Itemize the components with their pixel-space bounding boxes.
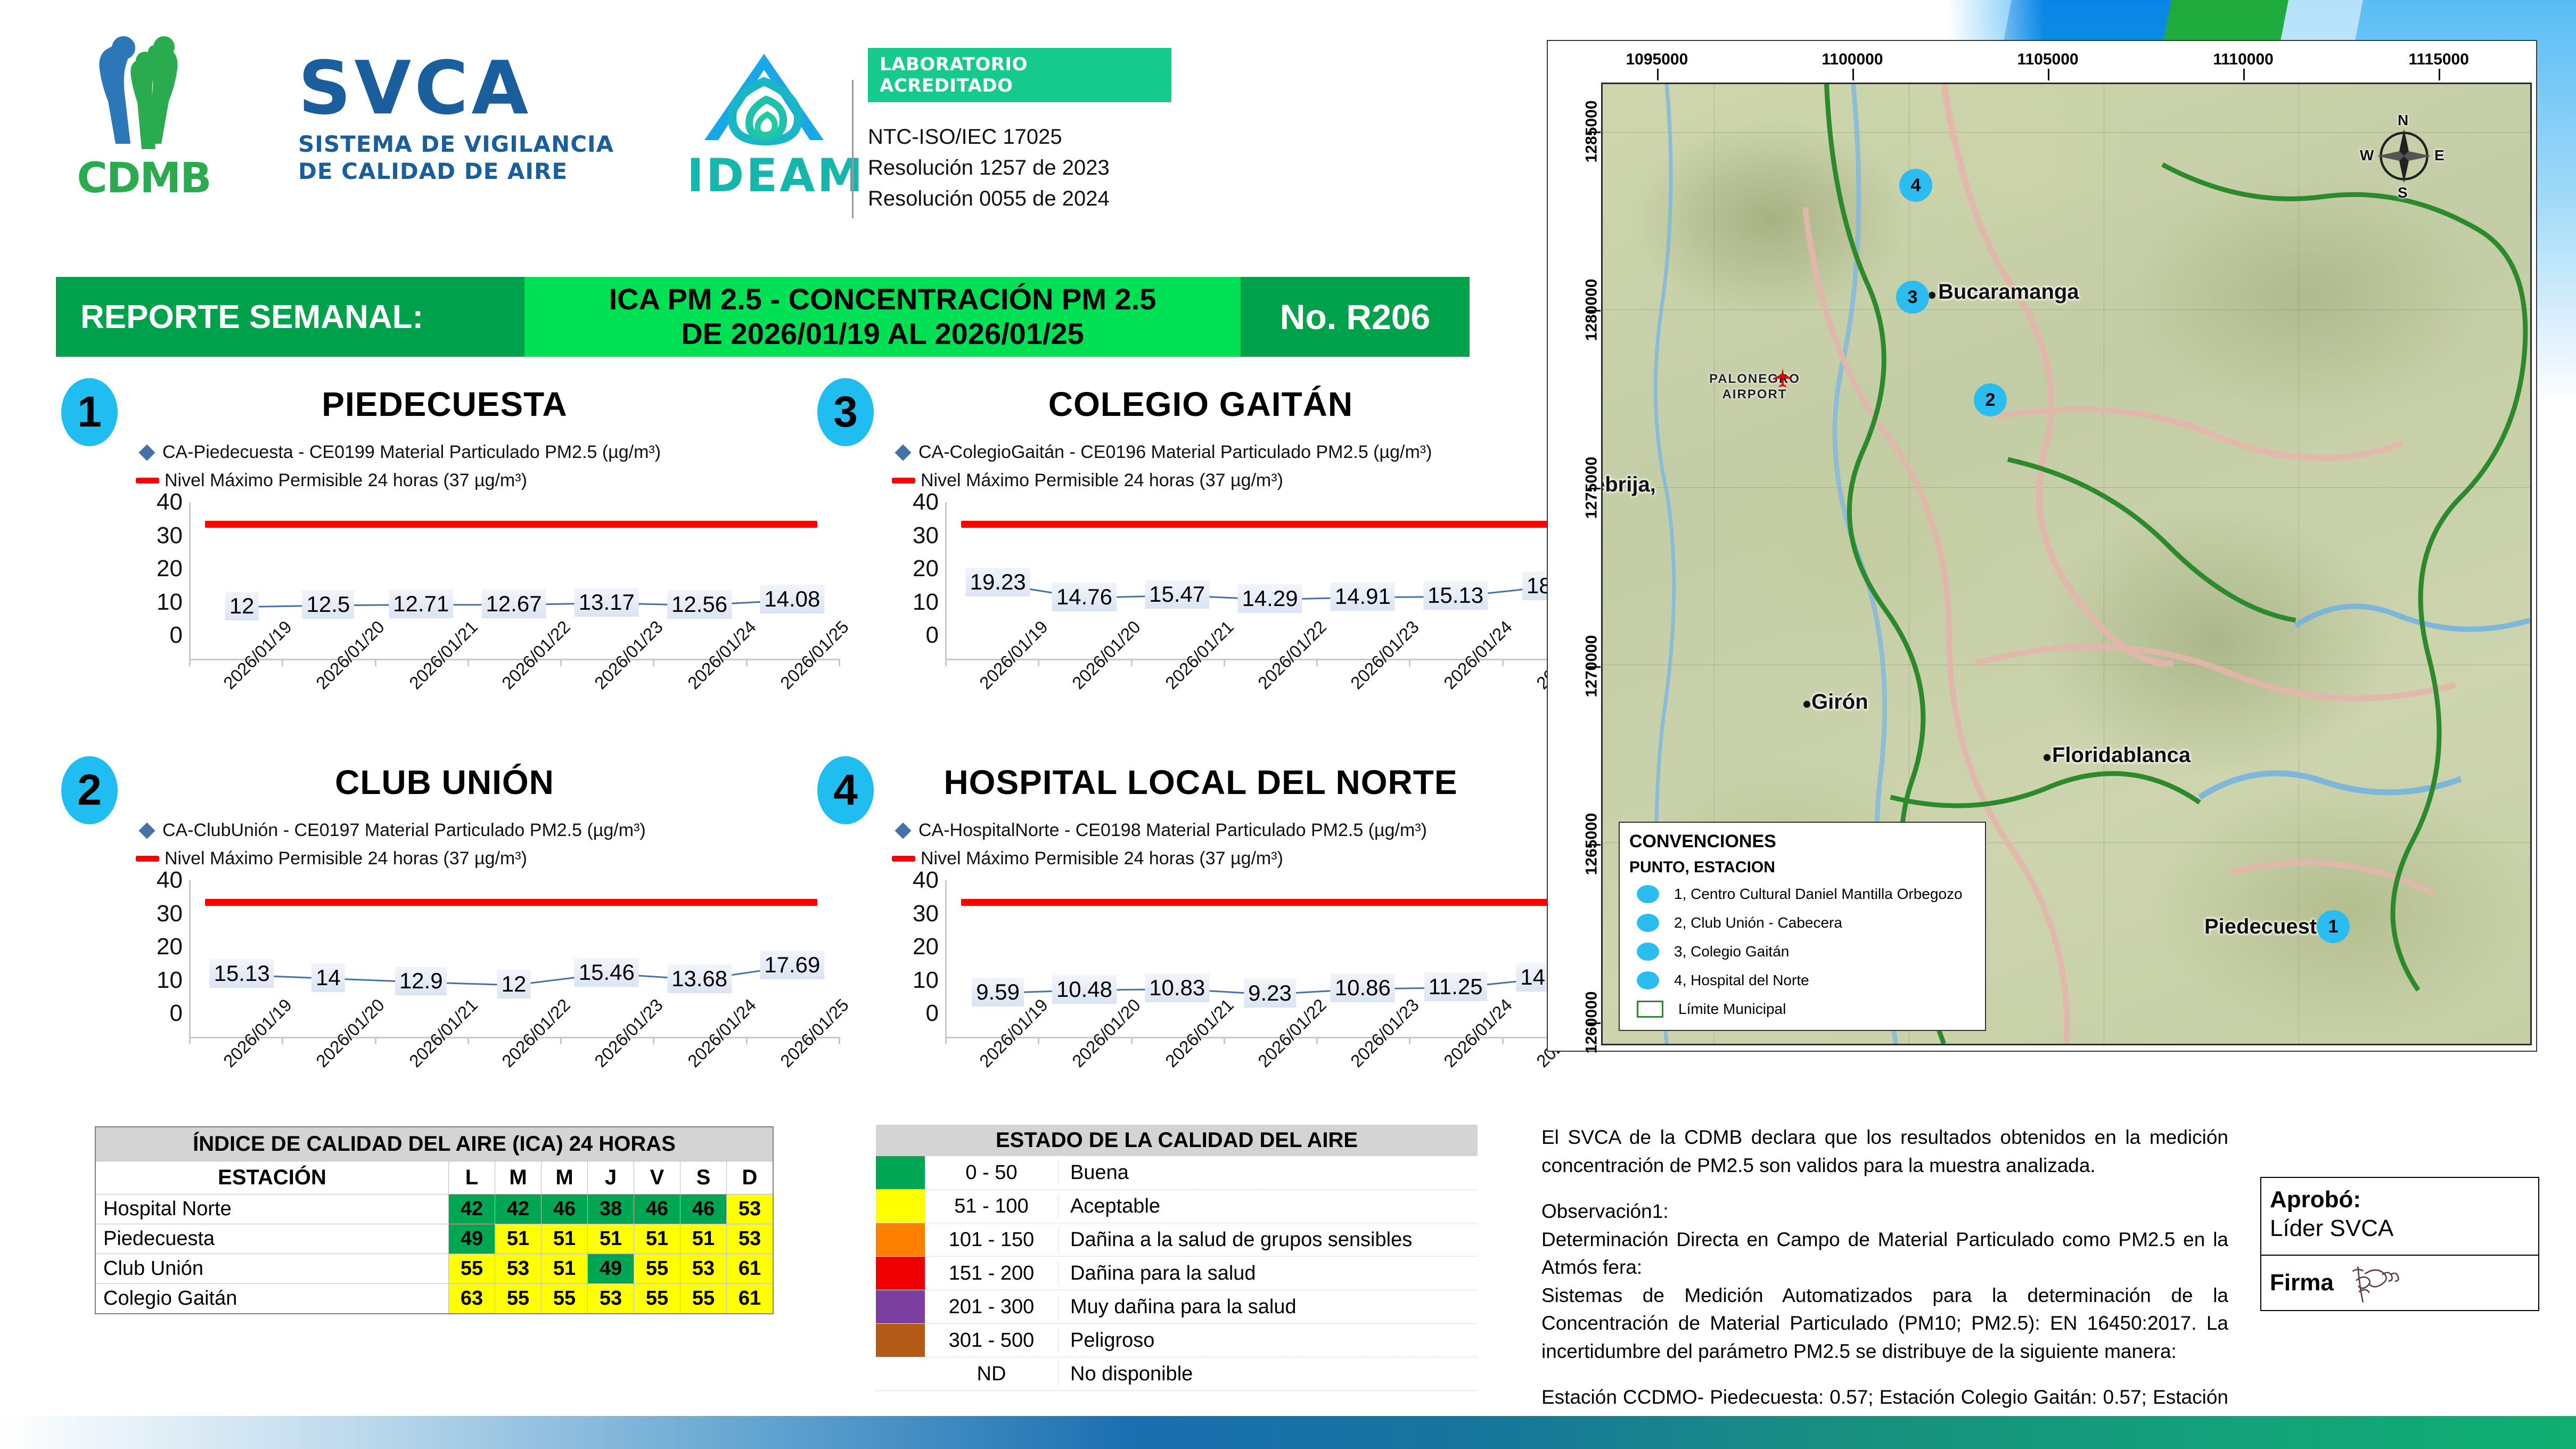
ica-value-cell: 51 xyxy=(680,1224,727,1254)
ica-table-header-row: ESTACIÓNLMMJVSD xyxy=(95,1161,773,1194)
air-quality-label: Aceptable xyxy=(1059,1195,1160,1218)
series-marker-icon xyxy=(138,822,155,839)
accreditation-standards: NTC-ISO/IEC 17025 Resolución 1257 de 202… xyxy=(868,121,1171,214)
air-quality-color-swatch xyxy=(876,1324,925,1357)
chart-title: CLUB UNIÓN xyxy=(130,763,759,802)
chart-axis-line-horizontal xyxy=(189,1037,839,1038)
report-subject-line2: DE 2026/01/19 AL 2026/01/25 xyxy=(524,317,1241,351)
map-pin-1[interactable]: 1 xyxy=(2317,910,2350,943)
report-number: No. R206 xyxy=(1241,277,1470,357)
observation-text-2: Sistemas de Medición Automatizados para … xyxy=(1541,1282,2228,1366)
map-x-axis: 1095000 1100000 1105000 1110000 1115000 xyxy=(1601,43,2532,80)
data-point-label: 10.83 xyxy=(1145,973,1209,1002)
data-point-label: 12 xyxy=(497,970,531,998)
ica-table-body: Hospital Norte42424638464653 Piedecuesta… xyxy=(95,1194,773,1314)
map-y-axis: 1285000 1280000 1275000 1270000 1265000 … xyxy=(1550,84,1601,1046)
list-item: 0 - 50 Buena xyxy=(876,1156,1478,1190)
table-row: Club Unión55535149555361 xyxy=(95,1254,773,1284)
x-tick-mark xyxy=(282,1037,283,1044)
ica-value-cell: 46 xyxy=(680,1194,727,1224)
air-quality-color-swatch xyxy=(876,1357,925,1390)
air-quality-legend-title: ESTADO DE LA CALIDAD DEL AIRE xyxy=(876,1125,1478,1156)
data-point-label: 12.56 xyxy=(667,590,732,619)
legend-threshold-label: Nivel Máximo Permisible 24 horas (37 µg/… xyxy=(921,470,1283,491)
map-pin-4[interactable]: 4 xyxy=(1899,169,1932,202)
x-tick-mark xyxy=(189,659,191,666)
data-point-label: 12.9 xyxy=(395,967,447,995)
x-tick-mark xyxy=(653,1037,654,1044)
table-row: Colegio Gaitán63555553555561 xyxy=(95,1284,773,1314)
x-tick-mark xyxy=(1316,659,1318,666)
map-legend-subtitle: PUNTO, ESTACION xyxy=(1629,858,1975,877)
map-x-tick-mark xyxy=(2243,69,2245,80)
chart-axis-line-horizontal xyxy=(189,659,839,660)
ica-value-cell: 51 xyxy=(542,1254,588,1284)
accreditation-line-2: Resolución 1257 de 2023 xyxy=(868,152,1171,183)
map-y-tick-mark xyxy=(1588,1022,1601,1024)
list-item: 101 - 150 Dañina a la salud de grupos se… xyxy=(876,1223,1478,1257)
map-legend-item-4: 4, Hospital del Norte xyxy=(1629,966,1975,995)
legend-series-label: CA-ClubUnión - CE0197 Material Particula… xyxy=(162,820,646,841)
report-subject: ICA PM 2.5 - CONCENTRACIÓN PM 2.5 DE 202… xyxy=(524,277,1241,357)
observation-text-1: Determinación Directa en Campo de Materi… xyxy=(1541,1226,2228,1282)
x-tick-mark xyxy=(1502,1037,1504,1044)
legend-entry-series: CA-ColegioGaitán - CE0196 Material Parti… xyxy=(897,442,1432,463)
x-tick-mark xyxy=(1502,659,1504,666)
chart-panel-1: 1 PIEDECUESTA CA-Piedecuesta - CE0199 Ma… xyxy=(56,373,801,740)
air-quality-range: 0 - 50 xyxy=(925,1161,1059,1184)
x-tick-mark xyxy=(375,1037,376,1044)
air-quality-label: No disponible xyxy=(1059,1363,1193,1386)
ica-station-name: Club Unión xyxy=(95,1254,449,1284)
ica-value-cell: 42 xyxy=(495,1194,542,1224)
list-item: 51 - 100 Aceptable xyxy=(876,1190,1478,1223)
accreditation-block: LABORATORIO ACREDITADO NTC-ISO/IEC 17025… xyxy=(868,48,1171,214)
air-quality-label: Peligroso xyxy=(1059,1329,1154,1352)
ica-value-cell: 61 xyxy=(727,1284,774,1314)
ica-value-cell: 38 xyxy=(588,1194,634,1224)
signature-label: Firma xyxy=(2270,1270,2334,1296)
chart-plot-area: 010203040 15.131412.91215.4613.6817.69 2… xyxy=(136,892,785,1025)
ica-day-header-0: L xyxy=(449,1161,495,1194)
ica-value-cell: 55 xyxy=(680,1284,727,1314)
ica-day-header-3: J xyxy=(588,1161,634,1194)
ica-value-cell: 53 xyxy=(495,1254,542,1284)
legend-entry-threshold: Nivel Máximo Permisible 24 horas (37 µg/… xyxy=(141,848,646,869)
ica-value-cell: 51 xyxy=(588,1224,634,1254)
air-quality-color-swatch xyxy=(876,1223,925,1256)
x-tick-mark xyxy=(653,659,654,666)
map-legend-title: CONVENCIONES xyxy=(1629,831,1975,852)
chart-number-badge: 3 xyxy=(817,378,874,446)
data-point-label: 11.25 xyxy=(1424,972,1487,1001)
data-point-label: 12 xyxy=(225,592,259,620)
signature-row: Firma xyxy=(2261,1256,2538,1310)
cdmb-logo-mark xyxy=(59,32,229,165)
table-row: Piedecuesta49515151515153 xyxy=(95,1224,773,1254)
map-y-tick-mark xyxy=(1588,844,1601,846)
x-tick-mark xyxy=(1038,1037,1039,1044)
legend-entry-threshold: Nivel Máximo Permisible 24 horas (37 µg/… xyxy=(897,470,1432,491)
ica-value-cell: 55 xyxy=(449,1254,495,1284)
map-x-tick-mark xyxy=(1852,69,1854,80)
approved-by-role: Líder SVCA xyxy=(2270,1215,2530,1242)
accreditation-line-1: NTC-ISO/IEC 17025 xyxy=(868,121,1171,152)
y-tick-label: 40 xyxy=(913,867,939,894)
ica-value-cell: 46 xyxy=(542,1194,588,1224)
ica-day-header-6: D xyxy=(727,1161,774,1194)
x-tick-mark xyxy=(1131,659,1133,666)
series-marker-icon xyxy=(138,444,155,461)
data-point-label: 15.46 xyxy=(575,958,639,987)
air-quality-legend: ESTADO DE LA CALIDAD DEL AIRE 0 - 50 Bue… xyxy=(876,1125,1478,1391)
threshold-line-icon xyxy=(892,478,915,484)
threshold-line-icon xyxy=(892,856,915,862)
data-point-label: 14.91 xyxy=(1331,582,1395,611)
map-legend-item-label: 4, Hospital del Norte xyxy=(1674,972,1809,989)
map-x-tick-label: 1105000 xyxy=(2017,51,2078,69)
map-legend-pin-icon xyxy=(1637,885,1659,903)
footer-gradient-bar xyxy=(0,1416,2576,1449)
map-legend-item-label: 1, Centro Cultural Daniel Mantilla Orbeg… xyxy=(1674,886,1963,903)
legend-series-label: CA-HospitalNorte - CE0198 Material Parti… xyxy=(918,820,1427,841)
ica-table-caption: ÍNDICE DE CALIDAD DEL AIRE (ICA) 24 HORA… xyxy=(95,1127,773,1161)
compass-west-label: W xyxy=(2360,147,2374,164)
x-tick-mark xyxy=(375,659,376,666)
ideam-label: IDEAM xyxy=(687,149,841,202)
chart-number-badge: 4 xyxy=(817,756,874,824)
legend-threshold-label: Nivel Máximo Permisible 24 horas (37 µg/… xyxy=(165,470,527,491)
threshold-line-icon xyxy=(136,478,159,484)
air-quality-label: Dañina a la salud de grupos sensibles xyxy=(1059,1229,1412,1251)
svca-subtitle-line2: DE CALIDAD DE AIRE xyxy=(298,158,628,185)
map-legend-item-1: 1, Centro Cultural Daniel Mantilla Orbeg… xyxy=(1629,880,1975,908)
ica-value-cell: 53 xyxy=(727,1224,774,1254)
data-point-label: 10.48 xyxy=(1052,975,1117,1004)
x-tick-mark xyxy=(560,1037,562,1044)
place-label-bucaramanga: Bucaramanga xyxy=(1938,280,2079,304)
chart-title: COLEGIO GAITÁN xyxy=(887,384,1515,424)
chart-title: HOSPITAL LOCAL DEL NORTE xyxy=(887,763,1515,802)
list-item: ND No disponible xyxy=(876,1357,1478,1391)
map-legend-boundary-label: Límite Municipal xyxy=(1678,1001,1786,1018)
map-x-tick-label: 1110000 xyxy=(2213,51,2273,69)
data-point-label: 14 xyxy=(311,963,345,992)
data-point-label: 12.5 xyxy=(302,590,355,619)
chart-title: PIEDECUESTA xyxy=(130,384,759,424)
legend-entry-threshold: Nivel Máximo Permisible 24 horas (37 µg/… xyxy=(897,848,1427,869)
x-tick-mark xyxy=(282,659,283,666)
air-quality-range: 51 - 100 xyxy=(925,1195,1059,1218)
ica-station-name: Hospital Norte xyxy=(95,1194,449,1224)
air-quality-color-swatch xyxy=(876,1290,925,1323)
chart-legend: CA-Piedecuesta - CE0199 Material Particu… xyxy=(141,442,661,498)
place-label-floridablanca: Floridablanca xyxy=(2052,743,2191,767)
list-item: 151 - 200 Dañina para la salud xyxy=(876,1257,1478,1290)
x-tick-mark xyxy=(560,659,562,666)
legend-entry-series: CA-HospitalNorte - CE0198 Material Parti… xyxy=(897,820,1427,841)
chart-plot-area: 010203040 9.5910.4810.839.2310.8611.2514… xyxy=(892,892,1541,1025)
air-quality-range: 301 - 500 xyxy=(925,1329,1059,1352)
map-pin-3[interactable]: 3 xyxy=(1896,281,1929,314)
place-label-piedecuesta: Piedecuesta xyxy=(2204,915,2328,939)
legend-series-label: CA-ColegioGaitán - CE0196 Material Parti… xyxy=(918,442,1432,463)
map-pin-2[interactable]: 2 xyxy=(1974,383,2007,416)
air-quality-range: 151 - 200 xyxy=(925,1262,1059,1285)
approval-box: Aprobó: Líder SVCA Firma xyxy=(2260,1177,2539,1311)
map-y-tick-mark xyxy=(1588,132,1601,133)
list-item: 201 - 300 Muy dañina para la salud xyxy=(876,1290,1478,1324)
data-point-label: 15.13 xyxy=(1423,581,1488,610)
air-quality-range: ND xyxy=(925,1363,1059,1386)
table-row: Hospital Norte42424638464653 xyxy=(95,1194,773,1224)
series-marker-icon xyxy=(895,822,911,839)
air-quality-label: Muy dañina para la salud xyxy=(1059,1296,1297,1319)
ideam-logo-mark xyxy=(700,51,828,146)
airport-name-line2: AIRPORT xyxy=(1722,387,1787,402)
x-tick-mark xyxy=(1224,1037,1225,1044)
svca-subtitle-line1: SISTEMA DE VIGILANCIA xyxy=(298,130,628,158)
data-point-label: 12.67 xyxy=(481,590,546,618)
data-point-label: 15.47 xyxy=(1145,580,1209,609)
ica-value-cell: 61 xyxy=(727,1254,774,1284)
svca-acronym: SVCA xyxy=(298,53,628,123)
approved-by-label: Aprobó: xyxy=(2270,1186,2530,1213)
ica-day-header-1: M xyxy=(495,1161,542,1194)
map-legend-items: 1, Centro Cultural Daniel Mantilla Orbeg… xyxy=(1629,880,1975,995)
spacer xyxy=(1541,1365,2228,1383)
legend-entry-series: CA-Piedecuesta - CE0199 Material Particu… xyxy=(141,442,661,463)
ica-value-cell: 63 xyxy=(449,1284,495,1314)
ica-day-header-4: V xyxy=(634,1161,680,1194)
municipal-boundary-icon xyxy=(1637,1001,1663,1018)
declaration-paragraph: El SVCA de la CDMB declara que los resul… xyxy=(1541,1124,2228,1180)
map-legend-item-2: 2, Club Unión - Cabecera xyxy=(1629,908,1975,937)
map-x-tick-label: 1095000 xyxy=(1626,51,1688,69)
data-point-label: 12.71 xyxy=(389,590,453,618)
map-x-tick-mark xyxy=(2048,69,2049,80)
report-type-label: REPORTE SEMANAL: xyxy=(56,277,524,357)
x-tick-mark xyxy=(189,1037,191,1044)
x-tick-mark xyxy=(1316,1037,1318,1044)
header-divider xyxy=(852,80,854,218)
map-legend-item-3: 3, Colegio Gaitán xyxy=(1629,937,1975,966)
compass-east-label: E xyxy=(2434,147,2444,164)
observation-title: Observación1: xyxy=(1541,1198,2228,1226)
map-x-tick-mark xyxy=(2439,69,2440,80)
x-tick-mark xyxy=(467,659,469,666)
cdmb-logo: CDMB xyxy=(59,32,229,208)
ica-value-cell: 51 xyxy=(542,1224,588,1254)
chart-plot-area: 010203040 1212.512.7112.6713.1712.5614.0… xyxy=(136,514,785,647)
air-quality-color-swatch xyxy=(876,1190,925,1223)
y-tick-label: 40 xyxy=(913,489,939,515)
chart-legend: CA-ClubUnión - CE0197 Material Particula… xyxy=(141,820,646,877)
air-quality-range: 201 - 300 xyxy=(925,1296,1059,1319)
legend-entry-series: CA-ClubUnión - CE0197 Material Particula… xyxy=(141,820,646,841)
ica-value-cell: 49 xyxy=(588,1254,634,1284)
place-label-giron: Girón xyxy=(1811,690,1868,714)
report-header: CDMB SVCA SISTEMA DE VIGILANCIA DE CALID… xyxy=(0,0,1171,229)
y-tick-label: 40 xyxy=(157,867,183,894)
svca-logo: SVCA SISTEMA DE VIGILANCIA DE CALIDAD DE… xyxy=(298,53,628,185)
map-legend-pin-icon xyxy=(1637,971,1659,989)
chart-number-badge: 1 xyxy=(61,378,118,446)
map-y-tick-mark xyxy=(1588,488,1601,489)
chart-panel-3: 3 COLEGIO GAITÁN CA-ColegioGaitán - CE01… xyxy=(812,373,1557,740)
ica-value-cell: 53 xyxy=(727,1194,774,1224)
air-quality-legend-rows: 0 - 50 Buena 51 - 100 Aceptable 101 - 15… xyxy=(876,1156,1478,1391)
series-marker-icon xyxy=(895,444,911,461)
data-point-label: 15.13 xyxy=(210,959,274,988)
signature-mark-icon xyxy=(2345,1259,2414,1307)
ica-station-name: Piedecuesta xyxy=(95,1224,449,1254)
map-x-tick-label: 1115000 xyxy=(2408,51,2468,69)
data-point-label: 13.17 xyxy=(575,588,639,617)
ica-value-cell: 53 xyxy=(588,1284,634,1314)
map-legend-pin-icon xyxy=(1637,914,1659,932)
air-quality-color-swatch xyxy=(876,1156,925,1189)
report-title-bar: REPORTE SEMANAL: ICA PM 2.5 - CONCENTRAC… xyxy=(56,277,1470,357)
compass-north-label: N xyxy=(2398,112,2408,129)
map-legend-box: CONVENCIONES PUNTO, ESTACION 1, Centro C… xyxy=(1619,822,1986,1031)
ica-value-cell: 55 xyxy=(634,1254,680,1284)
accreditation-line-3: Resolución 0055 de 2024 xyxy=(868,183,1171,214)
map-legend-pin-icon xyxy=(1637,943,1659,961)
x-tick-mark xyxy=(1409,1037,1410,1044)
ica-value-cell: 53 xyxy=(680,1254,727,1284)
ica-value-cell: 55 xyxy=(634,1284,680,1314)
accreditation-badge: LABORATORIO ACREDITADO xyxy=(868,48,1171,102)
ica-station-header: ESTACIÓN xyxy=(95,1161,449,1194)
ica-value-cell: 42 xyxy=(449,1194,495,1224)
chart-number-badge: 2 xyxy=(61,756,118,824)
approval-row: Aprobó: Líder SVCA xyxy=(2261,1178,2538,1256)
place-dot xyxy=(1929,292,1935,299)
data-point-label: 14.76 xyxy=(1052,583,1117,611)
legend-threshold-label: Nivel Máximo Permisible 24 horas (37 µg/… xyxy=(921,848,1283,869)
legend-threshold-label: Nivel Máximo Permisible 24 horas (37 µg/… xyxy=(165,848,527,869)
data-point-label: 10.86 xyxy=(1331,973,1395,1002)
x-tick-mark xyxy=(1409,659,1410,666)
airplane-icon xyxy=(1772,366,1793,388)
data-point-label: 13.68 xyxy=(667,964,732,993)
chart-legend: CA-HospitalNorte - CE0198 Material Parti… xyxy=(897,820,1427,877)
list-item: 301 - 500 Peligroso xyxy=(876,1324,1478,1357)
x-tick-mark xyxy=(1131,1037,1133,1044)
ica-value-cell: 51 xyxy=(634,1224,680,1254)
map-legend-item-label: 2, Club Unión - Cabecera xyxy=(1674,914,1842,931)
ica-value-cell: 49 xyxy=(449,1224,495,1254)
map-y-tick-mark xyxy=(1588,666,1601,668)
air-quality-range: 101 - 150 xyxy=(925,1229,1059,1251)
x-tick-mark xyxy=(467,1037,469,1044)
chart-axis-line-horizontal xyxy=(945,659,1595,660)
x-tick-mark xyxy=(945,1037,947,1044)
location-map: 1095000 1100000 1105000 1110000 1115000 … xyxy=(1547,40,2537,1052)
data-point-label: 14.29 xyxy=(1237,584,1302,613)
ica-value-cell: 55 xyxy=(542,1284,588,1314)
x-tick-mark xyxy=(746,1037,748,1044)
ideam-logo: IDEAM xyxy=(687,51,841,202)
map-x-tick-mark xyxy=(1657,69,1659,80)
x-tick-mark xyxy=(1224,659,1225,666)
y-tick-label: 40 xyxy=(157,489,183,515)
declaration-text: El SVCA de la CDMB declara que los resul… xyxy=(1541,1124,2228,1439)
report-subject-line1: ICA PM 2.5 - CONCENTRACIÓN PM 2.5 xyxy=(524,282,1241,317)
data-point-label: 19.23 xyxy=(966,568,1030,596)
threshold-line-icon xyxy=(136,856,159,862)
ica-station-name: Colegio Gaitán xyxy=(95,1284,449,1314)
compass-south-label: S xyxy=(2398,184,2408,201)
chart-axis-line-horizontal xyxy=(945,1037,1595,1038)
x-tick-mark xyxy=(1038,659,1039,666)
ica-value-cell: 55 xyxy=(495,1284,542,1314)
map-x-tick-label: 1100000 xyxy=(1822,51,1883,69)
place-dot xyxy=(2044,754,2050,761)
cdmb-label: CDMB xyxy=(59,154,229,202)
spacer xyxy=(1541,1180,2228,1198)
legend-series-label: CA-Piedecuesta - CE0199 Material Particu… xyxy=(162,442,661,463)
x-tick-mark xyxy=(746,659,748,666)
data-point-label: 9.59 xyxy=(972,978,1024,1006)
place-label-lebrija: ebrija, xyxy=(1601,473,1656,497)
chart-legend: CA-ColegioGaitán - CE0196 Material Parti… xyxy=(897,442,1432,498)
air-quality-label: Buena xyxy=(1059,1161,1129,1184)
map-y-tick-mark xyxy=(1588,310,1601,312)
ica-table: ÍNDICE DE CALIDAD DEL AIRE (ICA) 24 HORA… xyxy=(95,1126,774,1314)
ica-day-header-5: S xyxy=(680,1161,727,1194)
legend-entry-threshold: Nivel Máximo Permisible 24 horas (37 µg/… xyxy=(141,470,661,491)
air-quality-label: Dañina para la salud xyxy=(1059,1262,1256,1285)
compass-rose-icon: N S E W xyxy=(2364,116,2444,196)
map-legend-boundary-row: Límite Municipal xyxy=(1629,995,1975,1024)
ica-value-cell: 46 xyxy=(634,1194,680,1224)
x-tick-mark xyxy=(945,659,947,666)
data-point-label: 9.23 xyxy=(1244,979,1296,1008)
air-quality-color-swatch xyxy=(876,1257,925,1290)
chart-panel-4: 4 HOSPITAL LOCAL DEL NORTE CA-HospitalNo… xyxy=(812,751,1557,1118)
place-dot xyxy=(1803,701,1810,708)
chart-plot-area: 010203040 19.2314.7615.4714.2914.9115.13… xyxy=(892,514,1541,647)
chart-panel-2: 2 CLUB UNIÓN CA-ClubUnión - CE0197 Mater… xyxy=(56,751,801,1118)
ica-day-header-2: M xyxy=(542,1161,588,1194)
map-legend-item-label: 3, Colegio Gaitán xyxy=(1674,943,1789,960)
ica-value-cell: 51 xyxy=(495,1224,542,1254)
map-canvas[interactable]: PALONEGRO AIRPORT Bucaramanga Girón Flor… xyxy=(1601,83,2532,1045)
